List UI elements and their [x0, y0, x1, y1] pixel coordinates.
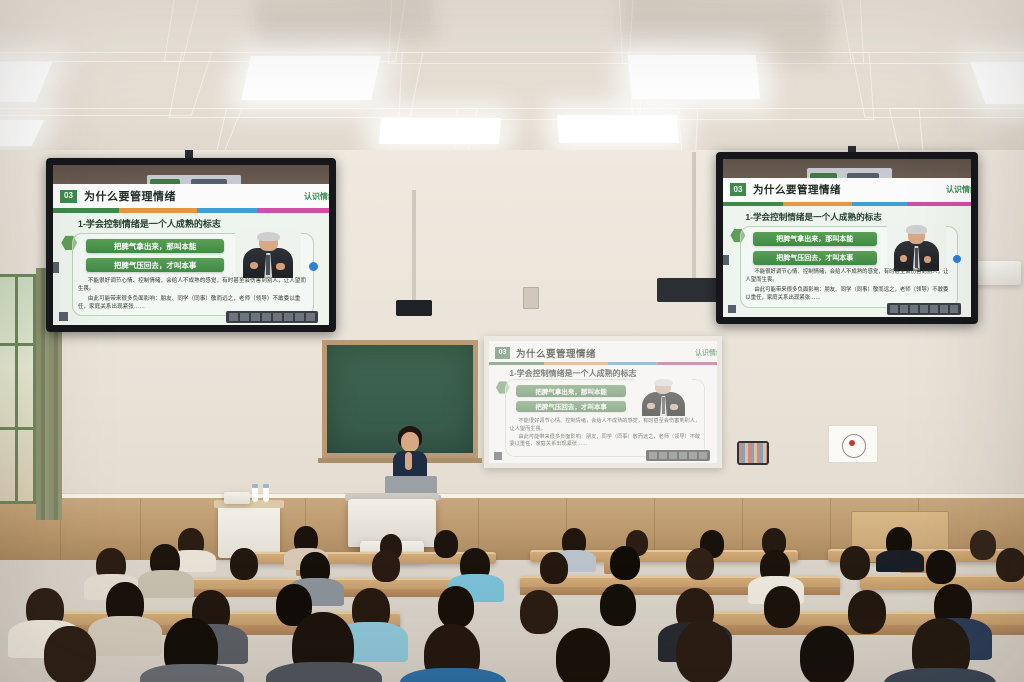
- slide-header: 03 为什么要管理情绪 认识情绪: [723, 178, 971, 202]
- student-head: [372, 550, 400, 582]
- ceiling-light: [241, 56, 380, 100]
- slide-kicker: 认识情绪: [695, 348, 717, 358]
- slide-paragraph-1: 不能很好调节心情、控制情绪，会给人不成熟的感觉，有时甚至会伤害到别人，让人望而生…: [745, 269, 953, 285]
- student-head: [970, 530, 996, 560]
- toolbar-button-undo[interactable]: [273, 313, 282, 321]
- student-head: [556, 628, 610, 682]
- toolbar-button-eraser[interactable]: [900, 305, 908, 313]
- slide-title: 为什么要管理情绪: [84, 188, 176, 204]
- desk-papers: [224, 492, 250, 504]
- toolbar-button-redo[interactable]: [940, 305, 948, 313]
- bottle-cap: [263, 484, 269, 488]
- green-box-2: 把脾气压回去，才叫本事: [86, 258, 224, 273]
- ceiling-projector: [396, 300, 432, 316]
- slide-corner-tab[interactable]: [59, 312, 68, 321]
- center-projection-screen: 03 为什么要管理情绪 认识情绪 1-学会控制情绪是一个人成熟的标志 把脾气拿出…: [484, 336, 722, 468]
- toolbar-button-page[interactable]: [295, 313, 304, 321]
- student-head: [996, 548, 1024, 582]
- slide-side-tab[interactable]: [723, 255, 729, 265]
- slide-body: 1-学会控制情绪是一个人成熟的标志 把脾气拿出来，那叫本能 把脾气压回去，才叫本…: [489, 365, 717, 463]
- slide-paragraph-1: 不能很好调节心情、控制情绪，会给人不成熟的感觉，有时甚至会伤害到别人，让人望而生…: [78, 277, 310, 293]
- slide-right: 03 为什么要管理情绪 认识情绪 1-学会控制情绪是一个人成熟的标志 把脾气拿出…: [723, 159, 971, 317]
- slide-toolbar[interactable]: [226, 311, 318, 323]
- slide-paragraph-2: 由此可能带来很多负面影响：朋友、同学（同事）敬而远之，老师（领导）不敢委以重任，…: [745, 287, 953, 303]
- left-display[interactable]: 03 为什么要管理情绪 认识情绪 1-学会控制情绪是一个人成熟的标志 把脾气拿出…: [46, 158, 336, 332]
- wall-outlet: [523, 287, 539, 309]
- student-head: [438, 586, 474, 628]
- student-shoulders: [400, 668, 506, 682]
- slide-title: 为什么要管理情绪: [753, 182, 841, 197]
- student-shoulders: [266, 662, 382, 682]
- lecturer-arm: [405, 452, 412, 470]
- toolbar-button-undo[interactable]: [930, 305, 938, 313]
- student-head: [610, 546, 640, 580]
- student-head: [434, 530, 458, 558]
- slide-body: 1-学会控制情绪是一个人成熟的标志 把脾气拿出来，那叫本能 把脾气压回去，才叫本…: [723, 206, 971, 317]
- student-head: [600, 584, 636, 626]
- toolbar-button-page[interactable]: [950, 305, 958, 313]
- slide-corner-tab[interactable]: [494, 452, 502, 460]
- slide-section-number: 03: [60, 190, 77, 203]
- bottle-cap: [252, 484, 258, 488]
- ceiling: [0, 0, 1024, 172]
- right-display[interactable]: 03 为什么要管理情绪 认识情绪 1-学会控制情绪是一个人成熟的标志 把脾气拿出…: [716, 152, 978, 324]
- student-head: [800, 626, 854, 682]
- slide-side-tab[interactable]: [53, 262, 59, 273]
- toolbar-button-pen[interactable]: [890, 305, 898, 313]
- slide-title: 为什么要管理情绪: [516, 346, 596, 360]
- slide-section-number: 03: [730, 183, 746, 196]
- slide-header: 03 为什么要管理情绪 认识情绪: [53, 184, 329, 208]
- window: [0, 274, 36, 504]
- ceiling-light: [557, 115, 679, 143]
- student-head: [520, 590, 558, 634]
- slide-kicker: 认识情绪: [946, 184, 971, 195]
- wall-monitor-screen: [739, 443, 767, 463]
- lecturer-head: [401, 432, 419, 452]
- projector-pole: [412, 190, 416, 312]
- toolbar-button-more[interactable]: [699, 452, 707, 459]
- toolbar-button-eraser[interactable]: [659, 452, 667, 459]
- student-shoulders: [876, 550, 924, 572]
- ceiling-light: [628, 55, 761, 99]
- slide-body: 1-学会控制情绪是一个人成熟的标志 把脾气拿出来，那叫本能 把脾气压回去，才叫本…: [53, 213, 329, 325]
- toolbar-button-pen[interactable]: [649, 452, 657, 459]
- speaker-photo: [635, 377, 692, 416]
- student-shoulders: [884, 668, 996, 682]
- speaker-photo: [235, 230, 301, 278]
- slide-subtitle: 1-学会控制情绪是一个人成熟的标志: [510, 368, 637, 379]
- green-box-1: 把脾气拿出来，那叫本能: [86, 239, 224, 254]
- slide-toolbar[interactable]: [646, 450, 710, 461]
- student-head: [540, 552, 568, 584]
- student-head: [848, 590, 886, 634]
- slide-paragraph-2: 由此可能带来很多负面影响：朋友、同学（同事）敬而远之，老师（领导）不敢委以重任，…: [78, 295, 310, 311]
- student-head: [686, 548, 714, 580]
- slide-help-icon[interactable]: [953, 255, 961, 263]
- student-head: [676, 620, 732, 682]
- slide-section-number: 03: [495, 347, 510, 359]
- toolbar-button-pen[interactable]: [229, 313, 238, 321]
- slide-subtitle: 1-学会控制情绪是一个人成熟的标志: [745, 211, 882, 223]
- slide-paragraph-1: 不能很好调节心情、控制情绪，会给人不成熟的感觉，有时甚至会伤害到别人，让人望而生…: [510, 418, 702, 433]
- slide-left: 03 为什么要管理情绪 认识情绪 1-学会控制情绪是一个人成熟的标志 把脾气拿出…: [53, 165, 329, 325]
- student-head: [926, 550, 956, 584]
- toolbar-button-shape[interactable]: [251, 313, 260, 321]
- classroom-scene: 03 为什么要管理情绪 认识情绪 1-学会控制情绪是一个人成熟的标志 把脾气拿出…: [0, 0, 1024, 682]
- school-emblem-icon: [842, 434, 866, 458]
- water-bottle: [252, 487, 258, 502]
- green-box-2: 把脾气压回去，才叫本事: [753, 251, 877, 265]
- toolbar-button-shape[interactable]: [669, 452, 677, 459]
- toolbar-button-undo[interactable]: [689, 452, 697, 459]
- wall-monitor[interactable]: [737, 441, 769, 465]
- ceiling-light: [379, 118, 501, 144]
- student-shoulders: [140, 664, 244, 682]
- student-shoulders: [88, 616, 162, 656]
- student-shoulders: [138, 570, 194, 598]
- projector-mount-box: [657, 278, 721, 302]
- toolbar-button-more[interactable]: [306, 313, 315, 321]
- student-head: [840, 546, 870, 580]
- slide-header: 03 为什么要管理情绪 认识情绪: [489, 343, 717, 361]
- toolbar-button-select[interactable]: [679, 452, 687, 459]
- slide-subtitle: 1-学会控制情绪是一个人成熟的标志: [78, 217, 221, 230]
- toolbar-button-redo[interactable]: [284, 313, 293, 321]
- projected-slide: 03 为什么要管理情绪 认识情绪 1-学会控制情绪是一个人成熟的标志 把脾气拿出…: [489, 341, 717, 463]
- wall-plaque: [828, 425, 878, 463]
- student-head: [764, 586, 800, 628]
- student-head: [230, 548, 258, 580]
- green-box-1: 把脾气拿出来，那叫本能: [753, 232, 877, 246]
- slide-kicker: 认识情绪: [304, 191, 329, 202]
- toolbar-button-eraser[interactable]: [240, 313, 249, 321]
- green-box-2: 把脾气压回去，才叫本事: [516, 401, 625, 413]
- slide-help-icon[interactable]: [309, 262, 318, 271]
- slide-corner-tab[interactable]: [728, 305, 736, 313]
- slide-paragraph-2: 由此可能带来很多负面影响：朋友、同学（同事）敬而远之，老师（领导）不敢委以重任，…: [510, 434, 702, 449]
- speaker-photo: [887, 223, 947, 271]
- water-bottle: [263, 487, 269, 502]
- projector-pole: [692, 152, 696, 278]
- green-box-1: 把脾气拿出来，那叫本能: [516, 385, 625, 397]
- student-head: [44, 626, 96, 682]
- toolbar-button-select[interactable]: [262, 313, 271, 321]
- slide-toolbar[interactable]: [887, 303, 961, 315]
- toolbar-button-shape[interactable]: [910, 305, 918, 313]
- toolbar-button-select[interactable]: [920, 305, 928, 313]
